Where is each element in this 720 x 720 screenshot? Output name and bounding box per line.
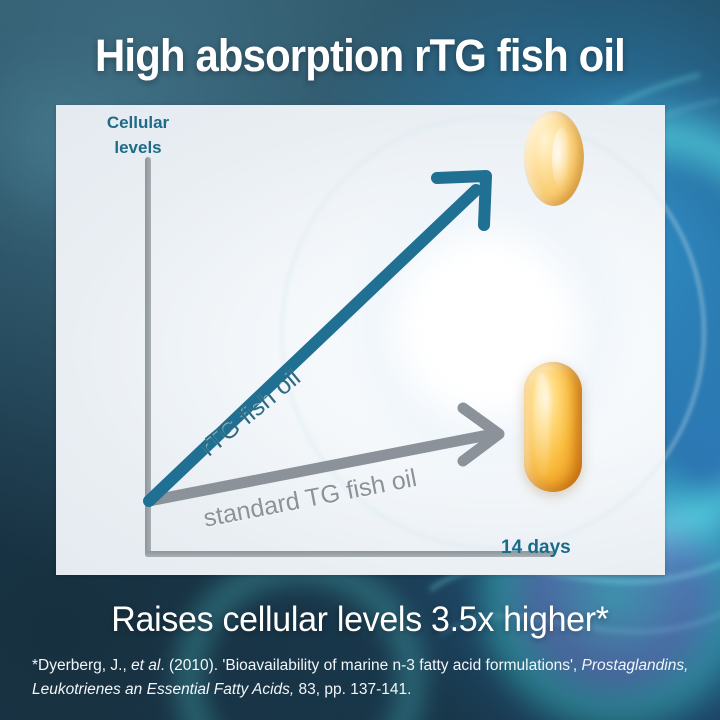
rtg-arrow xyxy=(149,176,486,501)
citation: *Dyerberg, J., et al. (2010). 'Bioavaila… xyxy=(32,654,692,702)
page-title: High absorption rTG fish oil xyxy=(25,30,695,82)
citation-italic-1: et al xyxy=(131,657,160,674)
citation-part-1: *Dyerberg, J., xyxy=(32,657,131,674)
citation-part-2: . (2010). 'Bioavailability of marine n-3… xyxy=(160,657,581,674)
tagline: Raises cellular levels 3.5x higher* xyxy=(11,600,709,640)
chart-panel: Cellular levels 14 days rTG fish oil sta… xyxy=(56,105,665,575)
citation-part-3: 83, pp. 137-141. xyxy=(294,681,411,698)
standard-tg-softgel-capsule-icon xyxy=(524,362,582,492)
promotional-infographic: High absorption rTG fish oil Cellular le… xyxy=(0,0,720,720)
